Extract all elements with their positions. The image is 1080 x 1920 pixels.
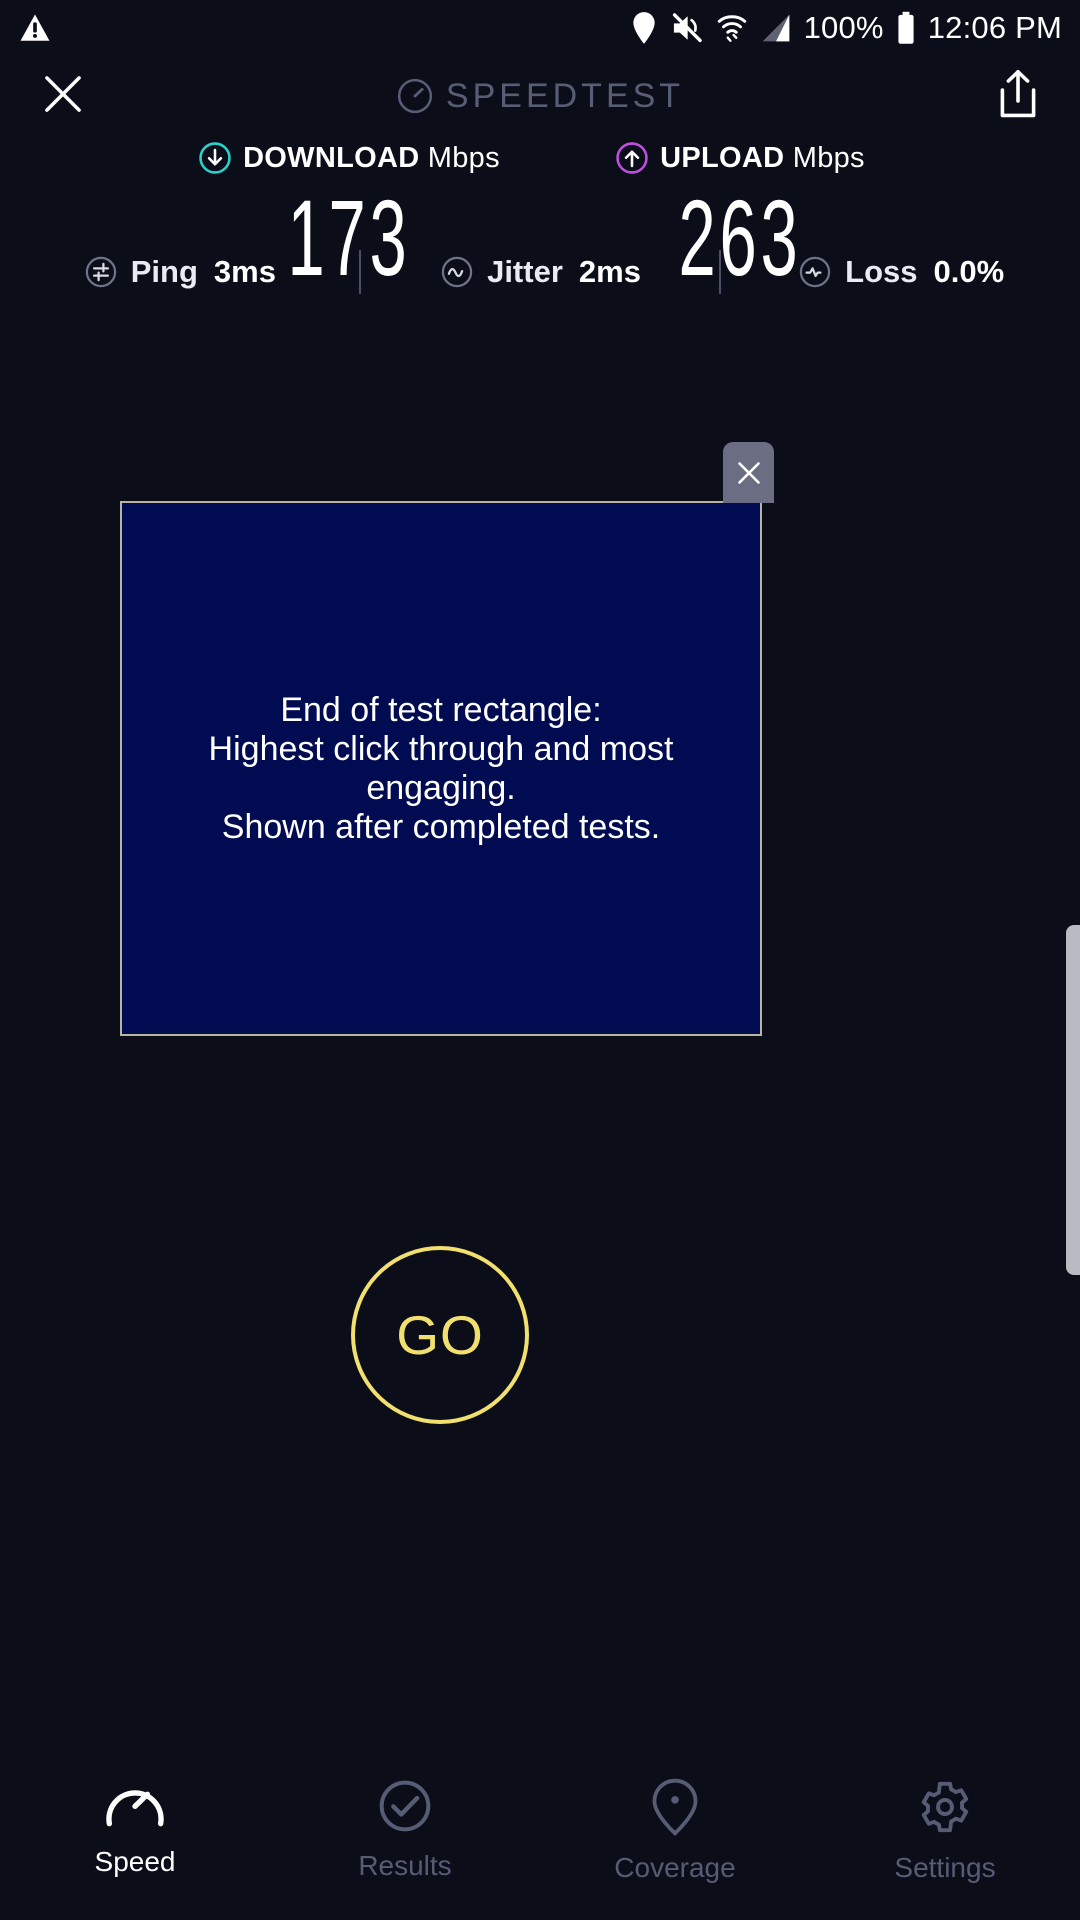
ad-close-button[interactable] — [723, 442, 774, 503]
metric-loss-value: 0.0% — [934, 254, 1005, 290]
metric-ping: Ping 3ms — [0, 254, 359, 290]
nav-item-settings[interactable]: Settings — [810, 1778, 1080, 1884]
warning-triangle-icon — [18, 11, 52, 45]
metric-ping-label: Ping — [131, 254, 198, 290]
location-icon — [630, 11, 658, 45]
nav-label-results: Results — [358, 1850, 451, 1882]
nav-item-results[interactable]: Results — [270, 1778, 540, 1882]
advertisement-line-3: Shown after completed tests. — [132, 808, 750, 847]
close-button[interactable] — [40, 71, 86, 122]
bottom-navigation-bar: Speed Results Coverage Settings — [0, 1760, 1080, 1920]
page-scrollbar[interactable] — [1066, 925, 1080, 1275]
download-label-row: DOWNLOAD Mbps — [180, 136, 518, 180]
wifi-icon — [716, 11, 748, 45]
cellular-signal-icon — [760, 13, 792, 43]
advertisement-line-1: End of test rectangle: — [132, 691, 750, 730]
share-button[interactable] — [996, 69, 1040, 124]
metric-loss: Loss 0.0% — [721, 254, 1080, 290]
nav-label-speed: Speed — [95, 1846, 176, 1878]
advertisement-container: End of test rectangle: Highest click thr… — [120, 501, 762, 1036]
page-title: SPEEDTEST — [0, 77, 1080, 116]
mute-icon — [670, 11, 704, 45]
app-header: SPEEDTEST — [0, 56, 1080, 136]
battery-percent-label: 100% — [804, 10, 884, 46]
advertisement-text: End of test rectangle: Highest click thr… — [122, 691, 760, 847]
app-title-label: SPEEDTEST — [446, 77, 684, 116]
advertisement-line-2: Highest click through and most engaging. — [132, 730, 750, 808]
battery-full-icon — [896, 11, 916, 45]
arrow-up-circle-icon — [615, 141, 649, 175]
status-bar: 100% 12:06 PM — [0, 0, 1080, 56]
nav-item-speed[interactable]: Speed — [0, 1778, 270, 1878]
download-label: DOWNLOAD Mbps — [243, 142, 500, 175]
speedometer-icon — [104, 1778, 166, 1830]
share-icon — [996, 69, 1040, 119]
metric-jitter: Jitter 2ms — [361, 254, 720, 290]
metric-jitter-value: 2ms — [579, 254, 641, 290]
ping-icon — [83, 254, 119, 290]
check-circle-icon — [377, 1778, 433, 1834]
go-button[interactable]: GO — [351, 1246, 529, 1424]
metric-loss-label: Loss — [845, 254, 917, 290]
speedometer-icon — [396, 77, 434, 115]
nav-item-coverage[interactable]: Coverage — [540, 1778, 810, 1884]
map-pin-icon — [650, 1778, 700, 1836]
jitter-icon — [439, 254, 475, 290]
gear-icon — [916, 1778, 974, 1836]
metrics-row: Ping 3ms Jitter 2ms Loss 0.0% — [0, 240, 1080, 304]
metric-jitter-label: Jitter — [487, 254, 563, 290]
close-icon — [734, 458, 764, 488]
nav-label-coverage: Coverage — [614, 1852, 735, 1884]
nav-label-settings: Settings — [894, 1852, 995, 1884]
upload-label-row: UPLOAD Mbps — [580, 136, 900, 180]
loss-icon — [797, 254, 833, 290]
arrow-down-circle-icon — [198, 141, 232, 175]
metric-ping-value: 3ms — [214, 254, 276, 290]
status-bar-right: 100% 12:06 PM — [630, 10, 1062, 46]
upload-label: UPLOAD Mbps — [660, 142, 865, 175]
advertisement-banner[interactable]: End of test rectangle: Highest click thr… — [120, 501, 762, 1036]
go-button-label: GO — [396, 1303, 484, 1367]
close-icon — [40, 71, 86, 117]
status-bar-left — [18, 11, 52, 45]
clock-label: 12:06 PM — [928, 10, 1062, 46]
